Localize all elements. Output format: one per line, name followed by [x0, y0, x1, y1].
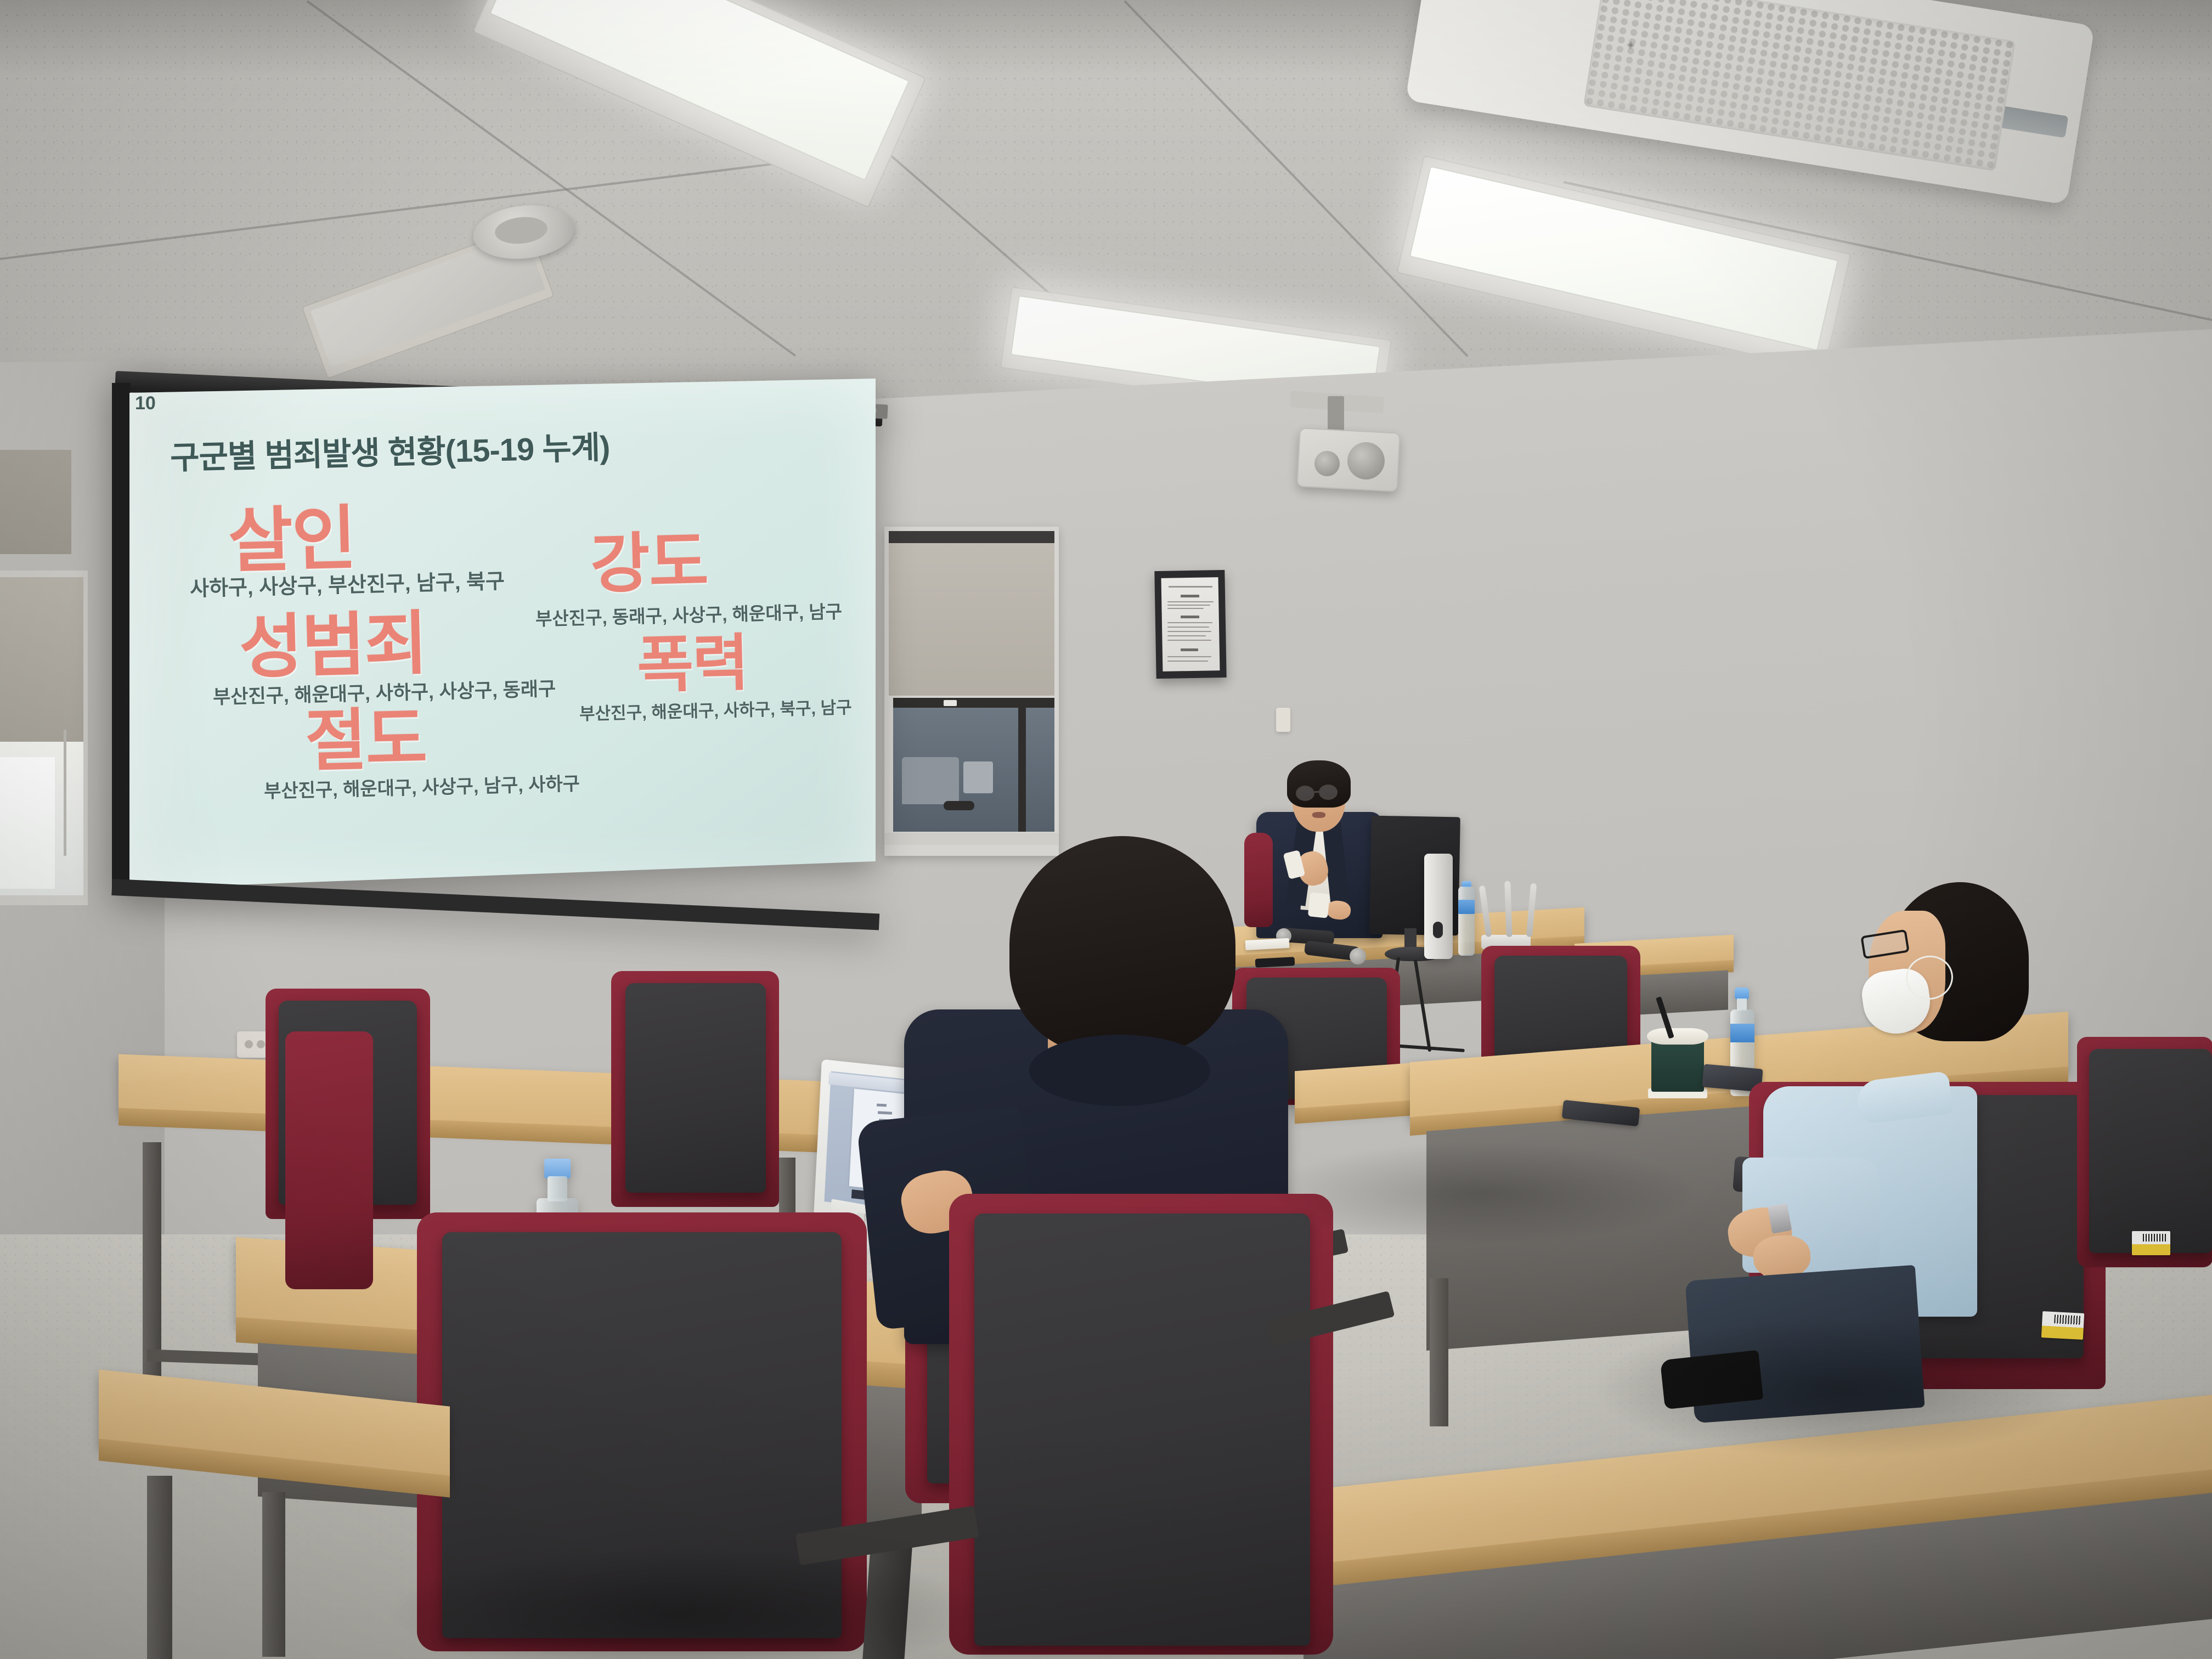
- window-blind-rail: [889, 531, 1054, 543]
- notice-line: [1167, 640, 1211, 641]
- window-sill: [884, 833, 1059, 845]
- outlet-socket: [257, 1040, 265, 1048]
- window-latch: [944, 700, 957, 706]
- car-outside: [902, 757, 959, 804]
- notice-heading: [1181, 648, 1198, 651]
- bottle-cap: [1735, 988, 1749, 1000]
- wall-device-box: [1276, 708, 1290, 732]
- window-handle: [944, 801, 974, 810]
- notice-line: [1167, 608, 1204, 609]
- bottle-neck: [1737, 998, 1747, 1011]
- right-desk-leg: [1430, 1278, 1448, 1426]
- notice-line: [1167, 601, 1214, 602]
- slide-title: 구군별 범죄발생 현황(15-19 누계): [170, 421, 610, 478]
- slide-page-number: 10: [135, 393, 156, 414]
- notice-line: [1169, 586, 1212, 588]
- left-window-blind: [0, 577, 83, 742]
- speaker-slot: [1433, 922, 1443, 938]
- projector-sensor: [1314, 451, 1340, 476]
- floor-shadow: [384, 1547, 988, 1659]
- presenter-glasses-left: [1296, 786, 1314, 801]
- far-right-chair-pad[interactable]: [2089, 1049, 2212, 1253]
- presenter-cuff-lower: [1308, 892, 1330, 918]
- bottle-body: [1458, 887, 1475, 956]
- districts-pokryeok: 부산진구, 해운대구, 사하구, 북구, 남구: [579, 693, 853, 725]
- bottle-label: [1458, 900, 1475, 914]
- projector-mount-arm: [1328, 396, 1344, 432]
- front-attendee-hair: [1009, 836, 1235, 1054]
- keyword-seongbeomjoe: 성범죄: [238, 588, 428, 692]
- notice-line: [1167, 661, 1208, 662]
- coffee-cup-lid: [1647, 1028, 1708, 1045]
- window-mullion: [893, 698, 1054, 708]
- outlet-socket: [245, 1040, 253, 1048]
- blind-cord: [64, 730, 66, 856]
- front-left-desk-leg: [262, 1492, 285, 1657]
- presenter-chair[interactable]: [1244, 833, 1273, 927]
- window-mullion: [1018, 698, 1026, 832]
- speaker-tower: [1424, 854, 1453, 959]
- projector-lens: [1347, 442, 1385, 479]
- chair-far-left[interactable]: [285, 1031, 373, 1289]
- bottom-left-desk-leg: [147, 1476, 172, 1659]
- keyword-gangdo: 강도: [589, 509, 708, 605]
- notice-line: [1167, 627, 1209, 628]
- slide-surface: 10 구군별 범죄발생 현황(15-19 누계) 살인 사하구, 사상구, 부산…: [129, 379, 876, 889]
- document-text-line: [877, 1104, 887, 1107]
- screen-left-border: [112, 383, 131, 893]
- bottle-label: [1730, 1024, 1754, 1042]
- car-outside-2: [963, 761, 993, 793]
- presenter-mouth: [1312, 812, 1325, 818]
- window-roller-blind: [889, 543, 1054, 696]
- presenter-glasses-bridge: [1314, 791, 1320, 793]
- floor-shadow: [1591, 1317, 2085, 1459]
- presenter-hair: [1287, 760, 1351, 808]
- notice-line: [1167, 622, 1212, 623]
- framed-notice-paper: [1161, 577, 1220, 672]
- presenter-water-bottle: [1457, 881, 1476, 956]
- notice-line: [1167, 656, 1211, 657]
- keyword-jeoldo: 절도: [304, 684, 427, 784]
- room-photo: ◈: [0, 0, 2212, 1659]
- microphone-head-2: [1350, 948, 1366, 964]
- asset-sticker-far-chair: [2132, 1231, 2170, 1255]
- barcode: [2143, 1234, 2167, 1242]
- bottle-cap: [544, 1159, 571, 1178]
- left-window-daylight: [0, 757, 55, 889]
- floor-shadow: [1262, 1141, 1701, 1245]
- left-window-upper: [0, 450, 71, 554]
- notice-line: [1167, 631, 1211, 632]
- keyword-pokryeok: 폭력: [636, 613, 749, 705]
- notice-heading: [1181, 616, 1199, 618]
- chair-foreground-2-pad[interactable]: [974, 1214, 1310, 1646]
- notice-line: [1167, 635, 1206, 636]
- chair-left-2-pad[interactable]: [625, 983, 766, 1193]
- front-attendee-collar: [1029, 1035, 1210, 1106]
- projection-screen: auton 10 구군별 범죄발생 현황(15-19 누계) 살인 사하구, 사…: [110, 357, 894, 927]
- notice-heading: [1181, 595, 1199, 597]
- notice-line: [1167, 605, 1210, 606]
- presenter-glasses-right: [1319, 785, 1338, 800]
- screen-bottom-bar: [111, 879, 879, 930]
- coffee-cup-sleeve: [1651, 1037, 1704, 1092]
